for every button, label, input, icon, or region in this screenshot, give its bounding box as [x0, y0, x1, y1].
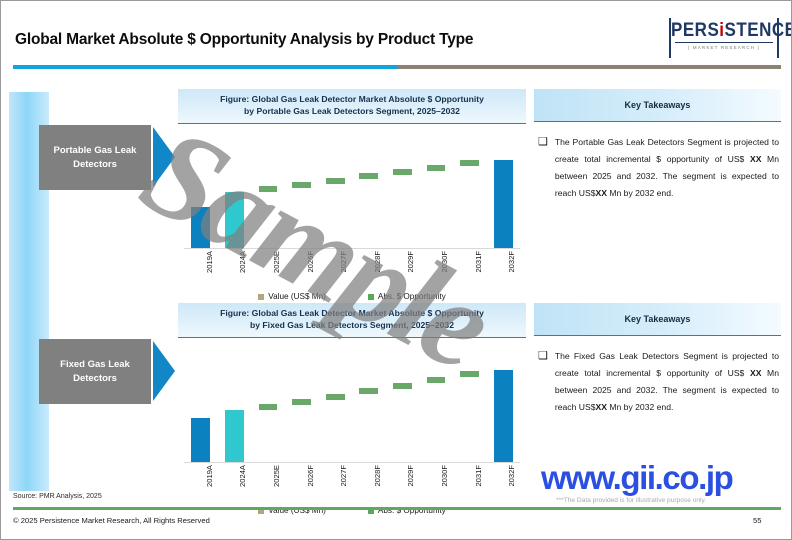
chart-opportunity-dash [259, 404, 278, 410]
chart-panel-fixed: Figure: Global Gas Leak Detector Market … [178, 303, 526, 501]
chart-opportunity-dash [326, 178, 345, 184]
legend-label-value: Value (US$ Mn) [268, 292, 326, 301]
key-takeaways-panel-portable: Key Takeaways ❑ The Portable Gas Leak De… [534, 89, 781, 202]
chart-opportunity-dash [460, 160, 479, 166]
chart-opportunity-dash [359, 173, 378, 179]
legend-label-abs: Abs. $ Opportunity [378, 292, 446, 301]
footer-divider [13, 507, 781, 510]
chart-title-portable-line2: by Portable Gas Leak Detectors Segment, … [188, 106, 516, 118]
arrow-right-icon-portable [153, 127, 175, 187]
axis-tick-label: 2027F [339, 465, 348, 487]
axis-tick-label: 2028F [373, 251, 382, 273]
chart-title-portable-line1: Figure: Global Gas Leak Detector Market … [188, 94, 516, 106]
key-takeaways-header-portable: Key Takeaways [534, 89, 781, 122]
axis-tick-label: 2029F [406, 465, 415, 487]
axis-tick-label: 2027F [339, 251, 348, 273]
kt-text-a: The Portable Gas Leak Detectors Segment … [555, 137, 779, 164]
chart-title-fixed-line1: Figure: Global Gas Leak Detector Market … [188, 308, 516, 320]
header-divider [13, 65, 781, 69]
chart-bar [191, 207, 210, 248]
chart-bar [225, 410, 244, 462]
chart-bar [225, 192, 244, 248]
axis-tick-label: 2029F [406, 251, 415, 273]
persistence-logo: PERSiSTENCE | MARKET RESEARCH | [669, 18, 779, 58]
chart-opportunity-dash [393, 383, 412, 389]
legend-item-abs: Abs. $ Opportunity [368, 292, 446, 301]
axis-tick-label: 2030F [440, 465, 449, 487]
key-takeaways-body-fixed: ❑ The Fixed Gas Leak Detectors Segment i… [534, 336, 781, 416]
axis-tick-label: 2019A [205, 251, 214, 273]
kt-xx-2: XX [595, 188, 606, 198]
checkbox-bullet-icon: ❑ [538, 348, 548, 416]
chart-axis-fixed: 2019A2024A2025E2026F2027F2028F2029F2030F… [184, 463, 520, 505]
kt-text-a: The Fixed Gas Leak Detectors Segment is … [555, 351, 779, 378]
chart-bar [191, 418, 210, 462]
axis-tick-label: 2030F [440, 251, 449, 273]
illustrative-note: ***The Data provided is for illustrative… [556, 497, 706, 504]
segment-label-portable-text: Portable Gas Leak Detectors [39, 144, 151, 172]
footer-copyright: © 2025 Persistence Market Research, All … [13, 516, 210, 525]
page-title: Global Market Absolute $ Opportunity Ana… [15, 31, 655, 49]
axis-tick-label: 2025E [272, 251, 281, 273]
axis-tick-label: 2031F [474, 465, 483, 487]
chart-plot-portable [184, 130, 520, 249]
legend-item-value: Value (US$ Mn) [258, 292, 326, 301]
axis-tick-label: 2024A [238, 251, 247, 273]
chart-plot-fixed [184, 344, 520, 463]
footer-page-number: 55 [753, 516, 761, 525]
source-note: Source: PMR Analysis, 2025 [13, 493, 102, 500]
logo-wordmark: PERSiSTENCE [671, 16, 777, 44]
key-takeaways-header-fixed: Key Takeaways [534, 303, 781, 336]
chart-legend-portable: Value (US$ Mn) Abs. $ Opportunity [178, 292, 526, 301]
key-takeaways-text-portable: The Portable Gas Leak Detectors Segment … [555, 134, 779, 202]
chart-title-fixed-line2: by Fixed Gas Leak Detectors Segment, 202… [188, 320, 516, 332]
legend-swatch-value-icon [258, 294, 264, 300]
chart-bar [494, 160, 513, 248]
gii-url-watermark: www.gii.co.jp [541, 459, 732, 497]
chart-opportunity-dash [427, 377, 446, 383]
key-takeaways-panel-fixed: Key Takeaways ❑ The Fixed Gas Leak Detec… [534, 303, 781, 416]
segment-label-fixed-text: Fixed Gas Leak Detectors [39, 358, 151, 386]
kt-xx-1: XX [750, 154, 761, 164]
chart-opportunity-dash [359, 388, 378, 394]
chart-opportunity-dash [393, 169, 412, 175]
axis-tick-label: 2024A [238, 465, 247, 487]
chart-title-fixed: Figure: Global Gas Leak Detector Market … [178, 303, 526, 338]
chart-bar [494, 370, 513, 462]
chart-opportunity-dash [427, 165, 446, 171]
chart-title-portable: Figure: Global Gas Leak Detector Market … [178, 89, 526, 124]
axis-tick-label: 2032F [507, 465, 516, 487]
logo-word-post: STENCE [725, 19, 792, 41]
legend-swatch-abs-icon [368, 294, 374, 300]
chart-axis-portable: 2019A2024A2025E2026F2027F2028F2029F2030F… [184, 249, 520, 291]
segment-label-fixed: Fixed Gas Leak Detectors [39, 339, 151, 404]
chart-opportunity-dash [326, 394, 345, 400]
kt-text-c: Mn by 2032 end. [607, 188, 673, 198]
kt-xx-2: XX [595, 402, 606, 412]
header-divider-blue [13, 65, 398, 69]
kt-xx-1: XX [750, 368, 761, 378]
logo-word-pre: PERS [671, 19, 719, 41]
axis-tick-label: 2025E [272, 465, 281, 487]
checkbox-bullet-icon: ❑ [538, 134, 548, 202]
key-takeaways-body-portable: ❑ The Portable Gas Leak Detectors Segmen… [534, 122, 781, 202]
chart-panel-portable: Figure: Global Gas Leak Detector Market … [178, 89, 526, 287]
header-divider-brown [398, 65, 781, 69]
chart-opportunity-dash [292, 182, 311, 188]
chart-opportunity-dash [292, 399, 311, 405]
axis-tick-label: 2031F [474, 251, 483, 273]
axis-tick-label: 2019A [205, 465, 214, 487]
axis-tick-label: 2028F [373, 465, 382, 487]
arrow-right-icon-fixed [153, 341, 175, 401]
chart-opportunity-dash [460, 371, 479, 377]
chart-opportunity-dash [259, 186, 278, 192]
key-takeaways-text-fixed: The Fixed Gas Leak Detectors Segment is … [555, 348, 779, 416]
kt-text-c: Mn by 2032 end. [607, 402, 673, 412]
axis-tick-label: 2026F [306, 465, 315, 487]
axis-tick-label: 2026F [306, 251, 315, 273]
segment-label-portable: Portable Gas Leak Detectors [39, 125, 151, 190]
slide: Global Market Absolute $ Opportunity Ana… [0, 0, 792, 540]
axis-tick-label: 2032F [507, 251, 516, 273]
